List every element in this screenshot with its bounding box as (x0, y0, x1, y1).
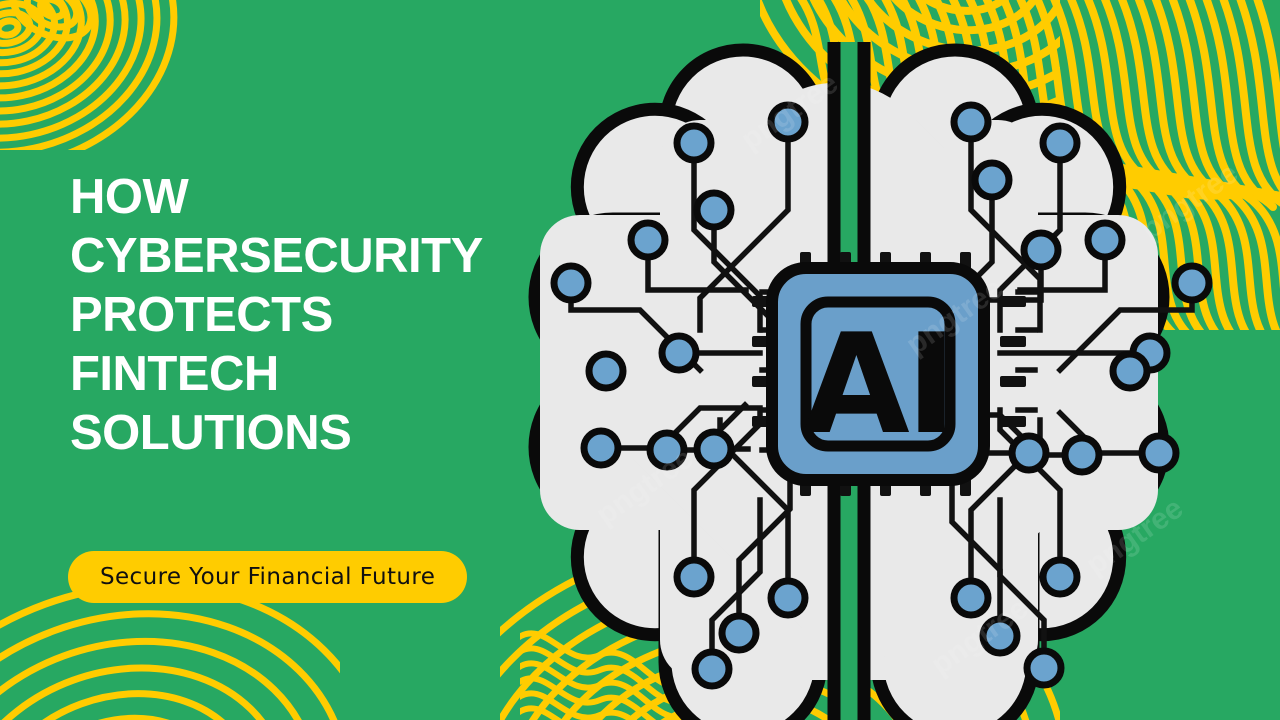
headline-line-1: HOW (70, 168, 540, 227)
cta-badge-label: Secure Your Financial Future (100, 564, 435, 590)
headline-line-3: PROTECTS (70, 286, 540, 345)
headline-line-4: FINTECH (70, 345, 540, 404)
banner-poster: AI (0, 0, 1280, 720)
headline-line-5: SOLUTIONS (70, 404, 540, 463)
cta-badge[interactable]: Secure Your Financial Future (68, 551, 467, 603)
ai-chip-label: AI (803, 304, 953, 465)
ai-chip: AI (772, 268, 984, 480)
headline: HOW CYBERSECURITY PROTECTS FINTECH SOLUT… (70, 168, 540, 463)
headline-line-2: CYBERSECURITY (70, 227, 540, 286)
